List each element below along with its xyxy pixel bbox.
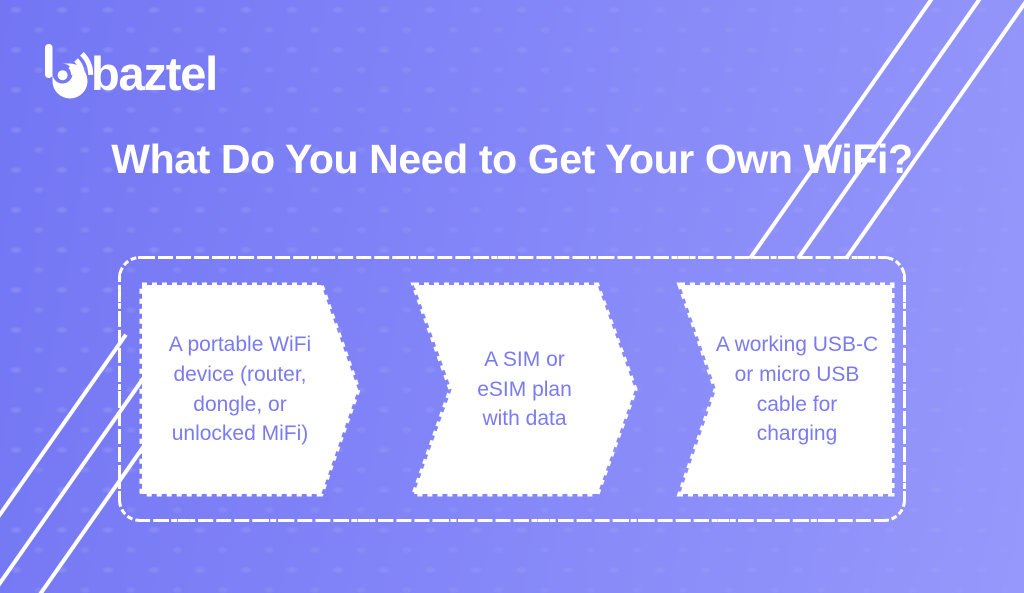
wifi-signal-b-icon: [42, 42, 96, 100]
infographic-canvas: baztel What Do You Need to Get Your Own …: [0, 0, 1024, 593]
page-title: What Do You Need to Get Your Own WiFi?: [0, 137, 1024, 183]
flow-card-list: A portable WiFi device (router, dongle, …: [142, 285, 892, 494]
flow-card-1-text: A portable WiFi device (router, dongle, …: [169, 330, 331, 449]
brand-logo-text: baztel: [91, 50, 217, 97]
brand-logo[interactable]: baztel: [42, 42, 217, 100]
flow-card-3[interactable]: A working USB-C or micro USB cable for c…: [680, 285, 892, 494]
flow-card-3-text: A working USB-C or micro USB cable for c…: [694, 330, 878, 449]
flow-card-2[interactable]: A SIM or eSIM plan with data: [414, 285, 635, 494]
flow-card-1[interactable]: A portable WiFi device (router, dongle, …: [142, 285, 358, 494]
flow-card-2-text: A SIM or eSIM plan with data: [477, 345, 572, 434]
